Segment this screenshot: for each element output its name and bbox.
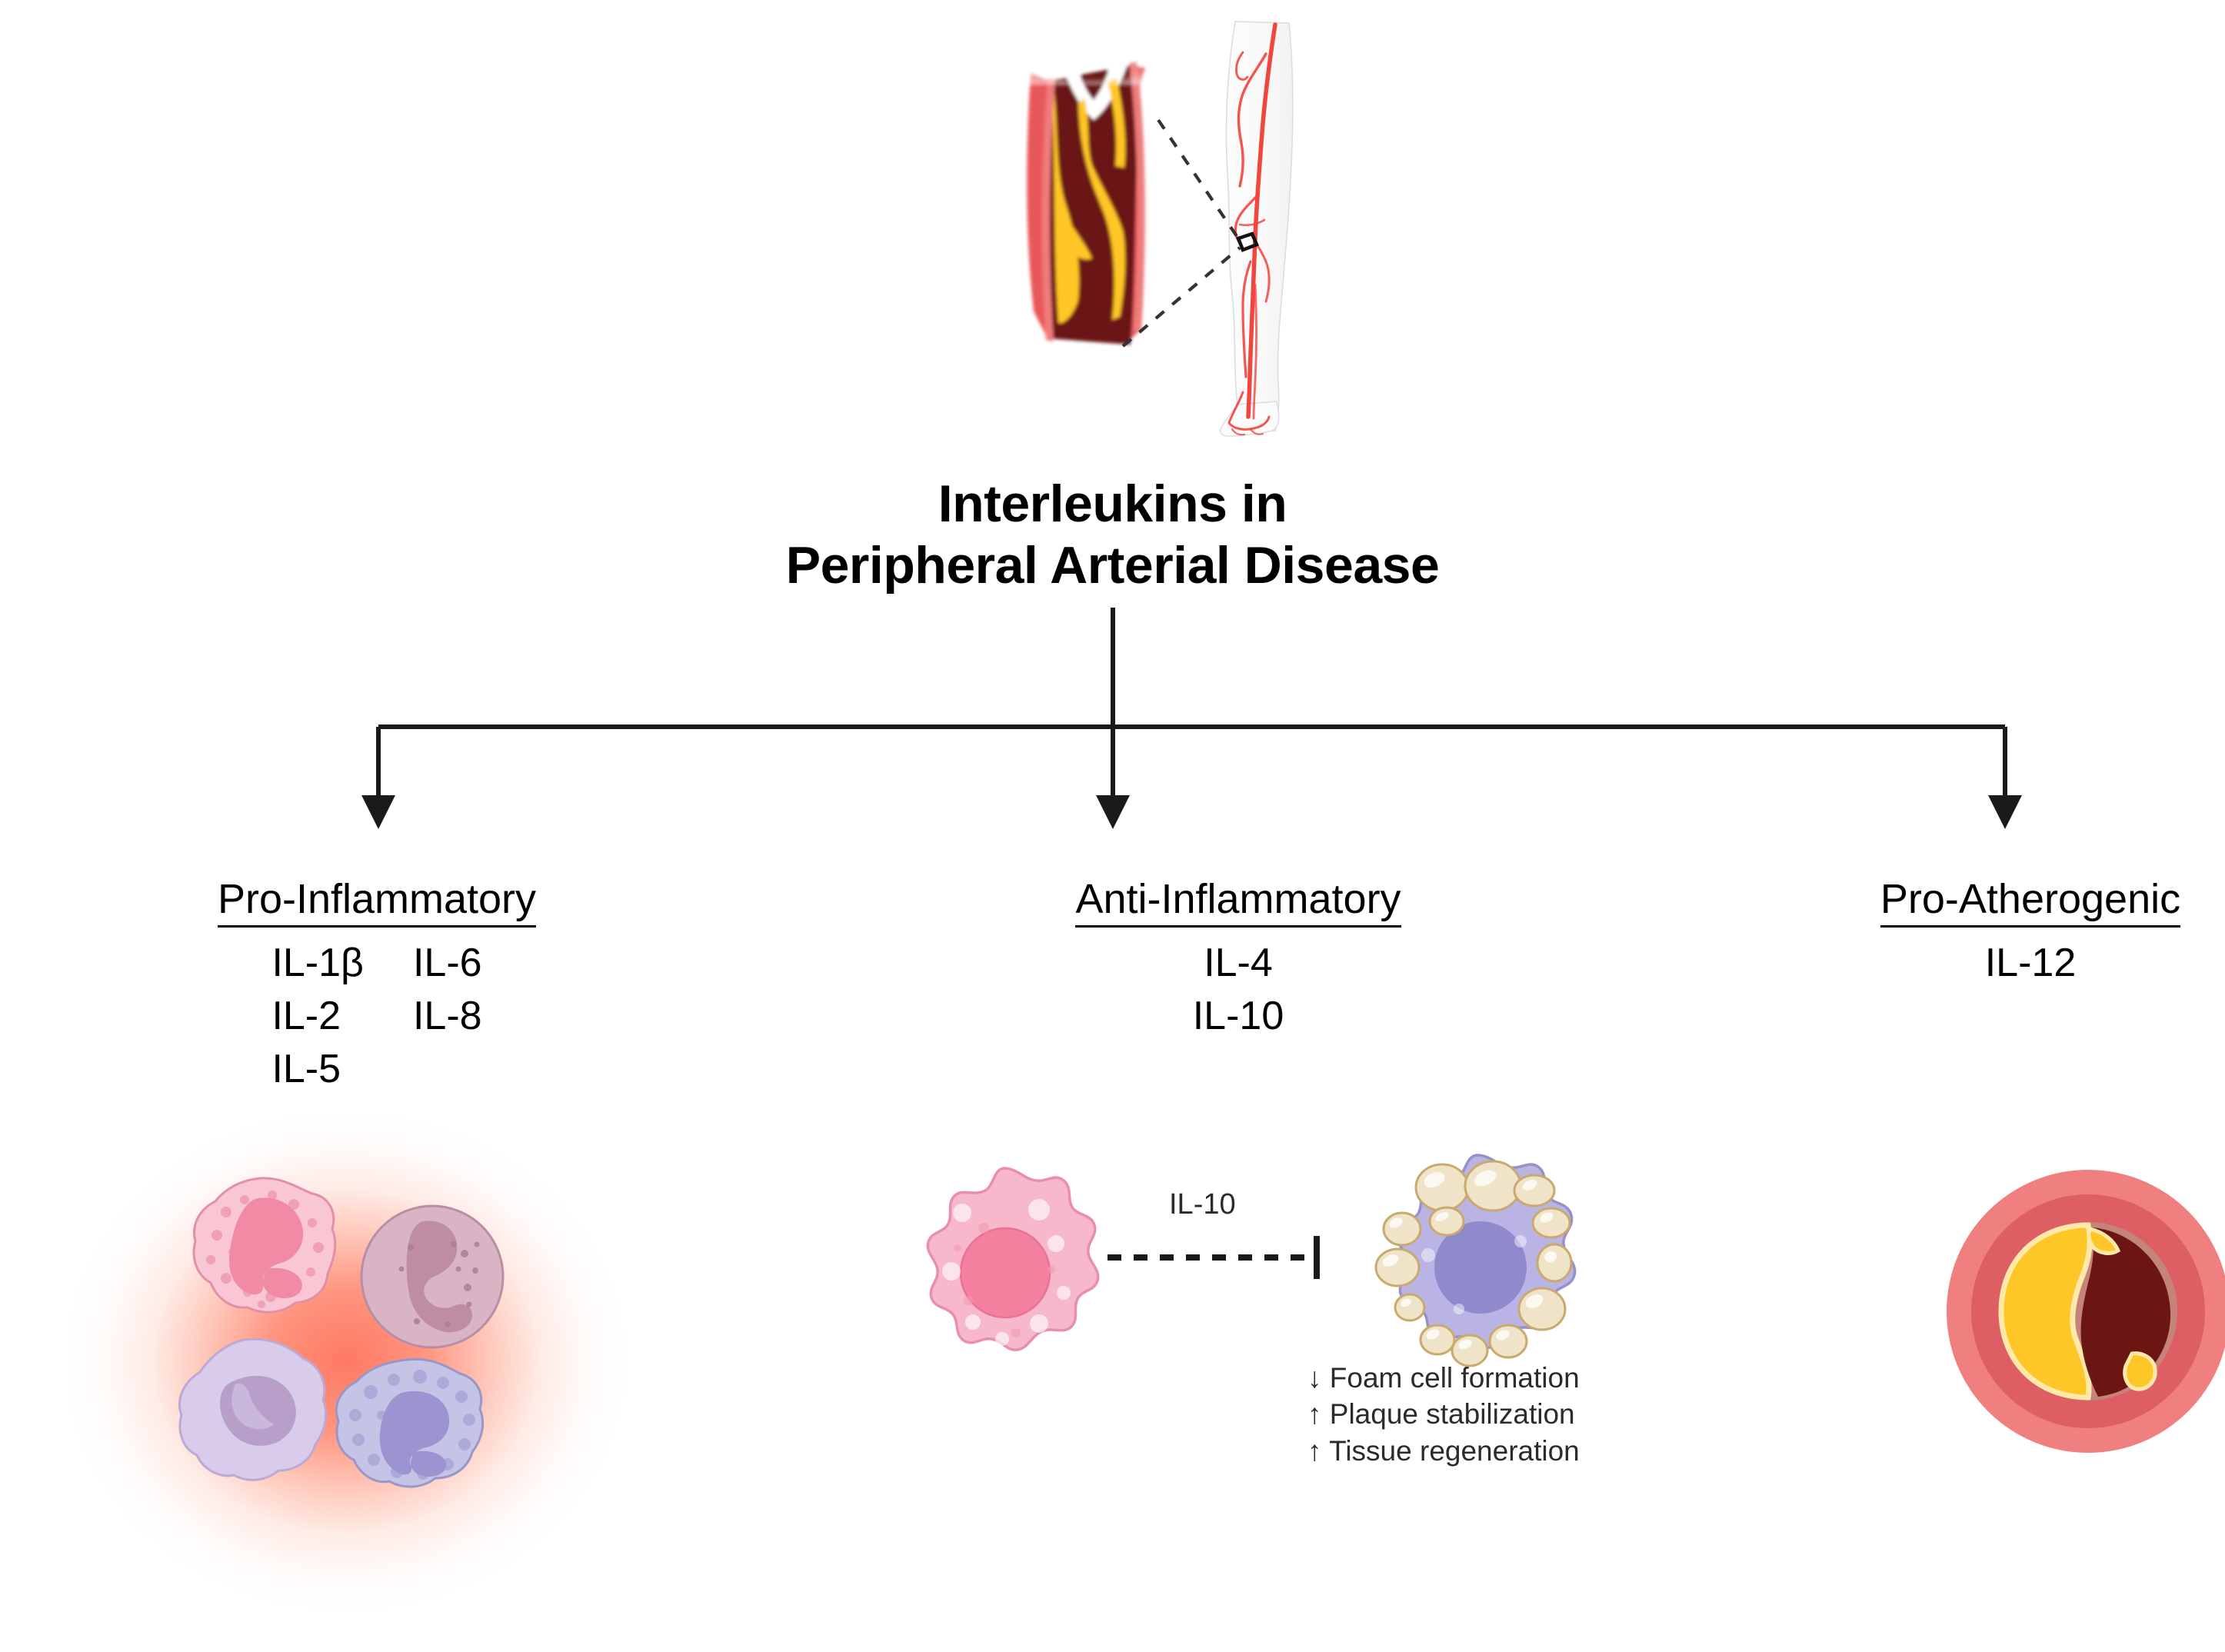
leukocyte-mauve xyxy=(361,1206,503,1347)
list-item: IL-2 xyxy=(271,990,364,1043)
il10-connector-label: IL-10 xyxy=(1169,1188,1236,1221)
category-heading-pro-atherogenic: Pro-Atherogenic xyxy=(1880,877,2180,928)
list-item: ↑ Tissue regeneration xyxy=(1307,1433,1580,1469)
list-item: IL-12 xyxy=(1723,937,2225,990)
category-pro-atherogenic: Pro-Atherogenic IL-12 xyxy=(1723,877,2225,990)
artery-longitudinal-section xyxy=(1023,54,1161,345)
arrowhead-right xyxy=(1988,795,2022,829)
arrowhead-left xyxy=(361,795,395,829)
list-item: IL-1β xyxy=(271,937,364,990)
title-line-1: Interleukins in xyxy=(0,473,2225,535)
category-heading-pro-inflammatory: Pro-Inflammatory xyxy=(218,877,536,928)
list-item: IL-10 xyxy=(931,990,1546,1043)
artery-cross-section-illustration xyxy=(1938,1161,2225,1461)
leukocyte-cluster-illustration xyxy=(146,1161,546,1523)
interleukin-list-anti-inflammatory: IL-4 IL-10 xyxy=(931,937,1546,1042)
arrowhead-middle xyxy=(1096,795,1130,829)
list-item: IL-8 xyxy=(413,990,482,1043)
foam-cell-illustration xyxy=(1357,1146,1596,1384)
list-item: ↓ Foam cell formation xyxy=(1307,1360,1580,1396)
title-line-2: Peripheral Arterial Disease xyxy=(0,535,2225,596)
diagram-canvas: Interleukins in Peripheral Arterial Dise… xyxy=(0,0,2225,1652)
macrophage-nucleus xyxy=(961,1228,1050,1317)
list-item: IL-4 xyxy=(931,937,1546,990)
list-item: IL-6 xyxy=(413,937,482,990)
atherosclerotic-artery-and-leg-illustration xyxy=(1008,8,1377,438)
leukocyte-pink xyxy=(194,1178,335,1312)
branching-connector xyxy=(0,608,2225,854)
leukocyte-lavender xyxy=(179,1339,325,1480)
list-item: ↑ Plaque stabilization xyxy=(1307,1396,1580,1432)
interleukin-list-pro-atherogenic: IL-12 xyxy=(1723,937,2225,990)
leukocyte-blue-purple xyxy=(336,1359,482,1487)
page-title: Interleukins in Peripheral Arterial Dise… xyxy=(0,473,2225,596)
category-anti-inflammatory: Anti-Inflammatory IL-4 IL-10 xyxy=(931,877,1546,1043)
macrophage-cell-illustration xyxy=(888,1157,1119,1388)
category-heading-anti-inflammatory: Anti-Inflammatory xyxy=(1075,877,1401,928)
il10-effects-list: ↓ Foam cell formation ↑ Plaque stabiliza… xyxy=(1307,1360,1580,1469)
